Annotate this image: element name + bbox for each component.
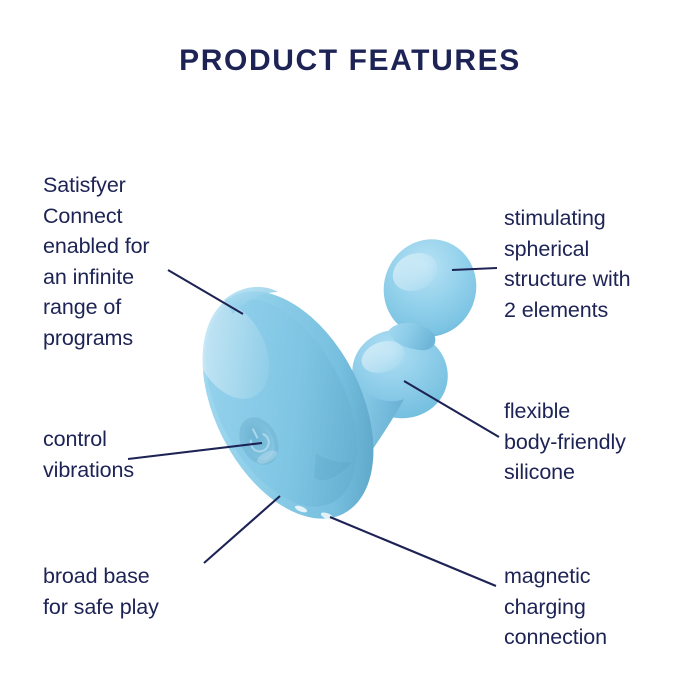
callout-line: connection xyxy=(504,622,607,653)
leader-line-magnetic-charging xyxy=(330,517,496,586)
callout-line: vibrations xyxy=(43,455,134,486)
callout-line: range of xyxy=(43,292,149,323)
callout-satisfyer-connect: Satisfyer Connect enabled for an infinit… xyxy=(43,170,149,353)
callout-spherical-structure: stimulating spherical structure with 2 e… xyxy=(504,203,630,325)
callout-broad-base: broad base for safe play xyxy=(43,561,159,622)
callout-line: control xyxy=(43,424,134,455)
callout-line: an infinite xyxy=(43,262,149,293)
callout-line: 2 elements xyxy=(504,295,630,326)
callout-line: body-friendly xyxy=(504,427,626,458)
callout-line: broad base xyxy=(43,561,159,592)
product-features-infographic: PRODUCT FEATURES xyxy=(0,0,700,700)
callout-line: magnetic xyxy=(504,561,607,592)
leader-line-broad-base xyxy=(204,496,280,563)
callout-line: Connect xyxy=(43,201,149,232)
callout-line: programs xyxy=(43,323,149,354)
callout-line: silicone xyxy=(504,457,626,488)
callout-line: Satisfyer xyxy=(43,170,149,201)
callout-control-vibrations: control vibrations xyxy=(43,424,134,485)
callout-line: stimulating xyxy=(504,203,630,234)
callout-line: charging xyxy=(504,592,607,623)
callout-magnetic-charging: magnetic charging connection xyxy=(504,561,607,653)
callout-line: for safe play xyxy=(43,592,159,623)
callout-line: spherical xyxy=(504,234,630,265)
product-body xyxy=(165,227,489,547)
callout-line: structure with xyxy=(504,264,630,295)
callout-flexible-silicone: flexible body-friendly silicone xyxy=(504,396,626,488)
callout-line: enabled for xyxy=(43,231,149,262)
callout-line: flexible xyxy=(504,396,626,427)
